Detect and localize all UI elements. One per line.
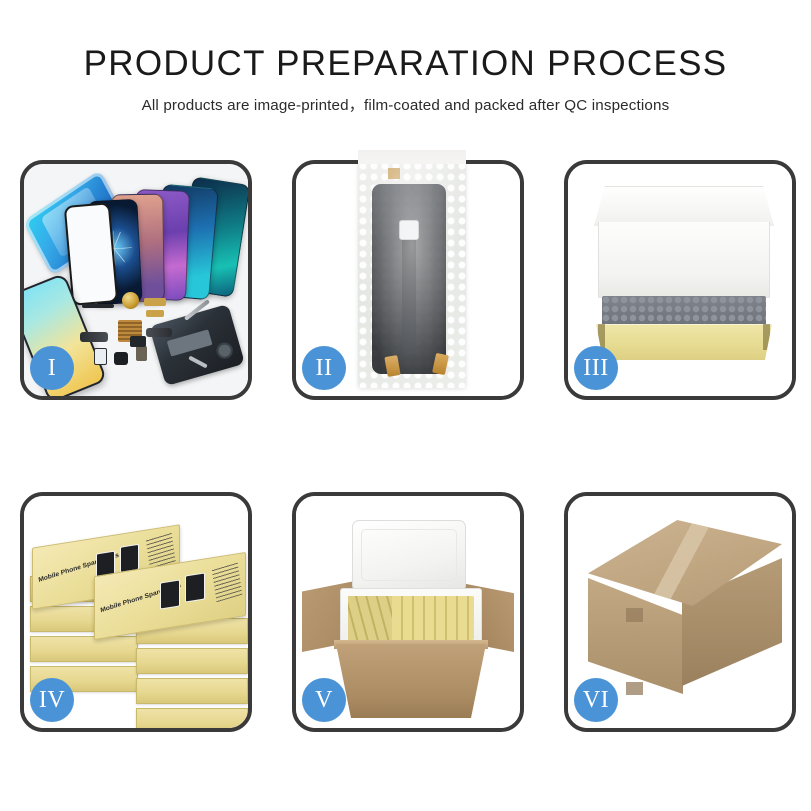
- step-badge-5: V: [302, 678, 346, 722]
- lid-screen-print-front-2: [185, 572, 205, 602]
- step-badge-1: I: [30, 346, 74, 390]
- process-step-panel-3: III: [564, 160, 796, 400]
- sim-tray-part: [94, 348, 107, 365]
- lens-part: [130, 336, 146, 347]
- step-badge-2: II: [302, 346, 346, 390]
- speaker-bar-part: [82, 304, 114, 308]
- tape-patch: [388, 168, 400, 179]
- carton-label-tag-1: [626, 608, 643, 622]
- gold-tab-right: [432, 353, 449, 375]
- process-step-panel-4: Mobile Phone Spare Parts Mobile Phone Sp…: [20, 492, 252, 732]
- battery-part: [136, 346, 147, 361]
- lcd-flex-cable: [402, 228, 416, 354]
- step-badge-3: III: [574, 346, 618, 390]
- step-badge-6: VI: [574, 678, 618, 722]
- small-repair-parts: [84, 290, 214, 390]
- foam-cooler-lid: [352, 520, 466, 592]
- bubble-wrap-sleeve: [358, 164, 466, 388]
- process-step-panel-6: VI: [564, 492, 796, 732]
- phone-screen-fan: [84, 178, 248, 308]
- gold-coil-part: [122, 292, 139, 309]
- process-step-panel-1: I: [20, 160, 252, 400]
- flex-cable-part-1: [80, 332, 108, 342]
- box-side-right-4: [136, 708, 248, 728]
- page-subtitle: All products are image-printed，film-coat…: [0, 93, 811, 115]
- screwdriver-tool: [184, 299, 210, 321]
- carton-body: [336, 644, 486, 718]
- page-title: PRODUCT PREPARATION PROCESS: [0, 44, 811, 83]
- grey-bubble-foam-layer: [602, 296, 766, 328]
- process-steps-grid: I II: [20, 160, 792, 732]
- box-side-left-3: [30, 636, 138, 662]
- box-side-right-3: [136, 678, 248, 704]
- tweezers-tool: [188, 356, 208, 369]
- carton-label-tag-2: [626, 682, 643, 695]
- process-step-panel-2: II: [292, 160, 524, 400]
- camera-module-part: [114, 352, 128, 365]
- lid-screen-print-front-1: [160, 579, 180, 609]
- packed-yellow-boxes-side: [348, 596, 392, 640]
- lcd-connector: [399, 220, 419, 240]
- gold-flex-part-1: [144, 298, 166, 306]
- flex-cable-part-2: [146, 328, 172, 337]
- header: PRODUCT PREPARATION PROCESS All products…: [0, 44, 811, 115]
- box-side-right-2: [136, 648, 248, 674]
- inner-box-paper-lining: [598, 222, 770, 298]
- gold-flex-part-2: [146, 310, 164, 317]
- process-step-panel-5: V: [292, 492, 524, 732]
- product-preparation-infographic: PRODUCT PREPARATION PROCESS All products…: [0, 0, 811, 811]
- step-badge-4: IV: [30, 678, 74, 722]
- inner-box-lid: [594, 186, 774, 226]
- inner-box-front-panel: [596, 324, 772, 360]
